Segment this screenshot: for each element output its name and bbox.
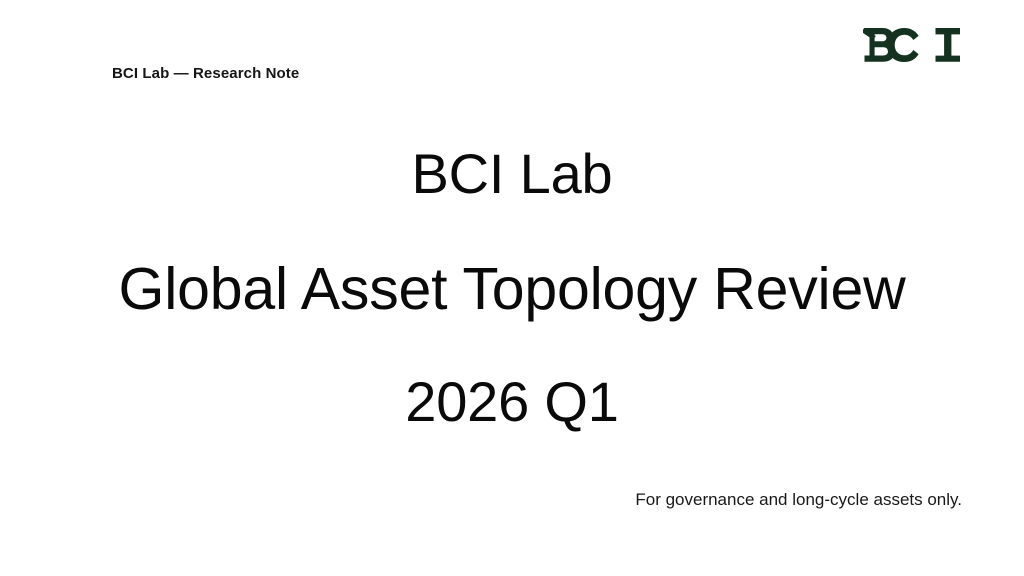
footer-disclaimer: For governance and long-cycle assets onl… [635, 488, 962, 511]
bci-wordmark-logo [863, 26, 963, 72]
title-line-3: 2026 Q1 [0, 362, 1024, 442]
brand-logo [863, 24, 963, 74]
page-title: BCI Lab Global Asset Topology Review 202… [0, 134, 1024, 442]
title-line-1: BCI Lab [0, 134, 1024, 214]
title-slide: BCI Lab — Research Note BCI Lab Global A… [0, 0, 1024, 576]
header-research-note: BCI Lab — Research Note [112, 64, 299, 84]
title-line-2: Global Asset Topology Review [0, 248, 1024, 330]
